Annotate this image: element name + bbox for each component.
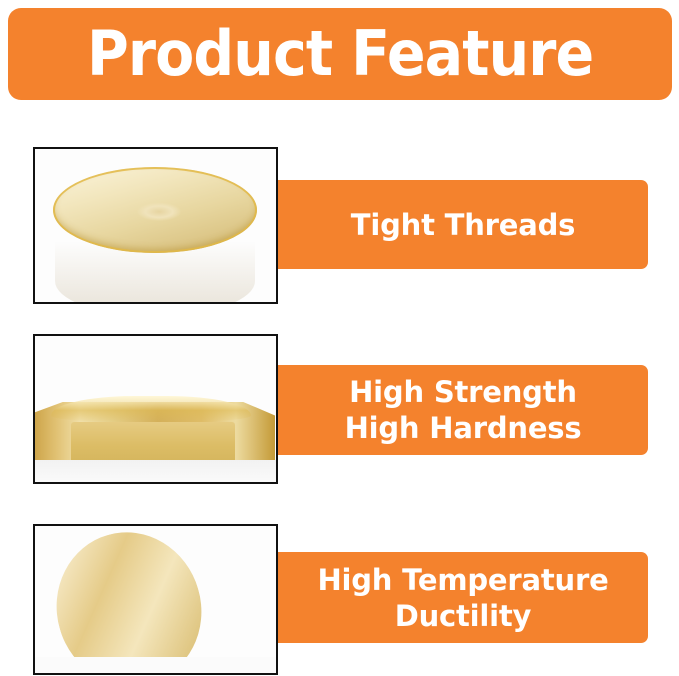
feature-label-bar: High Temperature Ductility bbox=[278, 552, 648, 643]
cap-rim-highlight bbox=[53, 167, 257, 253]
nut-floor-shadow bbox=[35, 657, 276, 673]
feature-row: High Strength High Hardness bbox=[0, 334, 679, 486]
page-title-banner: Product Feature bbox=[8, 8, 672, 100]
feature-label: Tight Threads bbox=[351, 207, 575, 243]
feature-image-frame bbox=[33, 334, 278, 484]
cap-top-photo bbox=[35, 149, 276, 302]
feature-label-bar: Tight Threads bbox=[278, 180, 648, 269]
threaded-bore-photo bbox=[35, 526, 276, 673]
hex-nut-photo bbox=[35, 336, 276, 482]
feature-label: High Temperature Ductility bbox=[317, 562, 608, 634]
feature-row: Tight Threads bbox=[0, 147, 679, 305]
feature-label: High Strength High Hardness bbox=[345, 374, 582, 446]
nut-floor-shadow bbox=[35, 460, 276, 482]
feature-image-frame bbox=[33, 147, 278, 304]
nut-edge-highlight bbox=[51, 396, 251, 422]
feature-image-frame bbox=[33, 524, 278, 675]
feature-label-bar: High Strength High Hardness bbox=[278, 365, 648, 455]
feature-row: High Temperature Ductility bbox=[0, 524, 679, 676]
page-title: Product Feature bbox=[87, 23, 593, 85]
